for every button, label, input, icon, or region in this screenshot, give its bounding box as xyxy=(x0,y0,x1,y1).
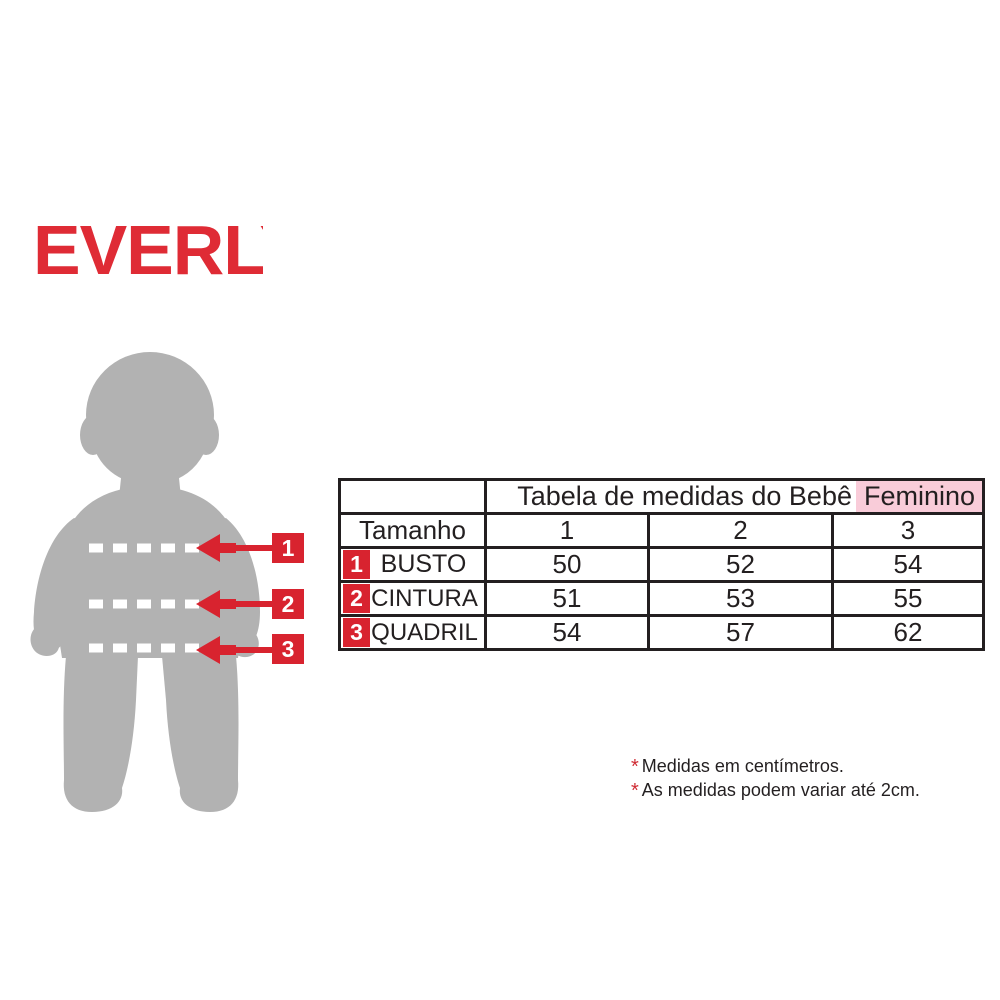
callout-bust: 1 xyxy=(190,531,308,565)
table-row: 3 QUADRIL 54 57 62 xyxy=(340,616,984,650)
footnote-text: Medidas em centímetros. xyxy=(642,756,844,776)
measurement-value: 53 xyxy=(649,582,833,616)
row-badge: 2 xyxy=(343,584,370,613)
brand-logo: EVERLY xyxy=(33,212,263,292)
callout-badge-number: 3 xyxy=(282,636,295,662)
row-badge: 3 xyxy=(343,618,370,647)
callout-hip: 3 xyxy=(190,630,308,664)
baby-silhouette-illustration xyxy=(10,340,300,820)
measurement-value: 57 xyxy=(649,616,833,650)
callout-badge-number: 1 xyxy=(282,535,295,561)
size-header-1: 1 xyxy=(486,514,649,548)
footnote-tolerance: *As medidas podem variar até 2cm. xyxy=(631,779,991,803)
callout-badge-number: 2 xyxy=(282,591,295,617)
gender-badge: Feminino xyxy=(856,480,982,514)
measurement-label-cell: 3 QUADRIL xyxy=(340,616,486,650)
arrow-left-icon xyxy=(196,636,236,664)
banner-spacer-cell xyxy=(340,480,486,514)
callout-waist: 2 xyxy=(190,587,308,621)
measurement-value: 54 xyxy=(486,616,649,650)
table-title: Tabela de medidas do Bebê xyxy=(517,483,856,510)
size-header-2: 2 xyxy=(649,514,833,548)
measurement-value: 50 xyxy=(486,548,649,582)
asterisk-icon: * xyxy=(631,780,642,802)
banner-cell: Tabela de medidas do Bebê Feminino xyxy=(486,480,984,514)
baby-body-shape xyxy=(31,352,260,812)
measurement-value: 55 xyxy=(833,582,984,616)
asterisk-icon: * xyxy=(631,756,642,778)
arrow-left-icon xyxy=(196,590,236,618)
table-row: 2 CINTURA 51 53 55 xyxy=(340,582,984,616)
measurement-label-cell: 2 CINTURA xyxy=(340,582,486,616)
brand-logo-text: EVERLY xyxy=(33,212,263,289)
footnotes: *Medidas em centímetros. *As medidas pod… xyxy=(631,755,991,803)
measurement-value: 52 xyxy=(649,548,833,582)
size-chart-table: Tabela de medidas do Bebê Feminino Taman… xyxy=(338,478,985,651)
arrow-left-icon xyxy=(196,534,236,562)
table-row: 1 BUSTO 50 52 54 xyxy=(340,548,984,582)
measurement-value: 62 xyxy=(833,616,984,650)
footnote-text: As medidas podem variar até 2cm. xyxy=(642,780,920,800)
measurement-label-cell: 1 BUSTO xyxy=(340,548,486,582)
footnote-units: *Medidas em centímetros. xyxy=(631,755,991,779)
measurement-value: 54 xyxy=(833,548,984,582)
table-header-row: Tamanho 1 2 3 xyxy=(340,514,984,548)
measurement-value: 51 xyxy=(486,582,649,616)
table-banner-row: Tabela de medidas do Bebê Feminino xyxy=(340,480,984,514)
row-badge: 1 xyxy=(343,550,370,579)
size-label-header: Tamanho xyxy=(340,514,486,548)
size-header-3: 3 xyxy=(833,514,984,548)
